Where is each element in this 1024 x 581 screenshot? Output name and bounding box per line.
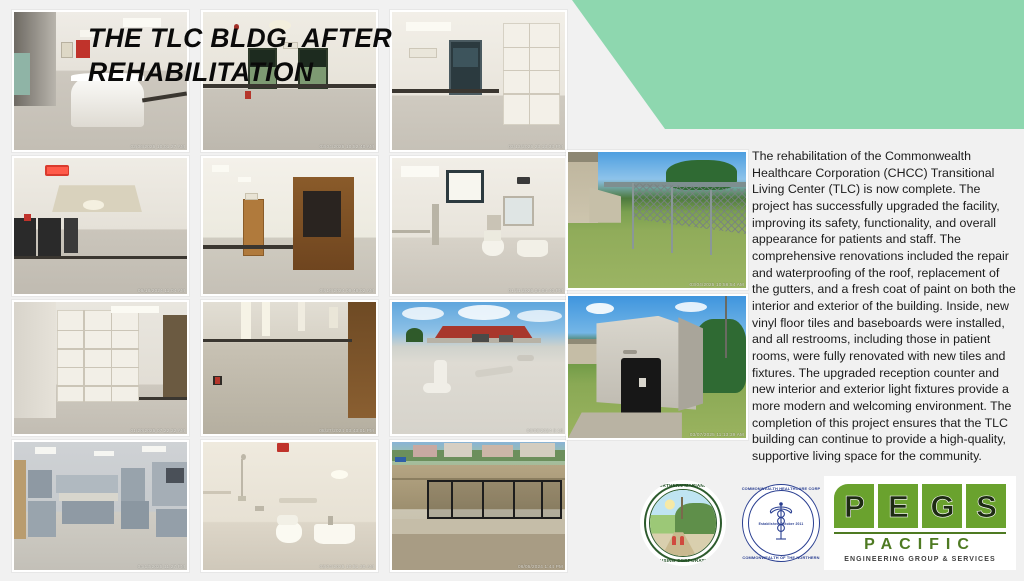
photo-image-corridor-wood-door: 09/16/2024 09:48:02 AM: [203, 158, 376, 294]
photo-timestamp: 03/04/2025 10:51:30 AM: [320, 564, 374, 569]
photo-timestamp: 03/13/2025 23:13:33 PM: [508, 144, 563, 149]
photo-thumbnail[interactable]: 03/04/2025 10:56:54 AM: [566, 150, 748, 290]
pegs-letter-e: E: [888, 491, 908, 522]
pegs-block-s: S: [966, 484, 1006, 528]
photo-timestamp: 09/16/2024 09:48:02 AM: [320, 288, 374, 293]
logo-strip: NORTHERN MARIANAS HOUSING CORPORATION CO…: [628, 474, 1020, 576]
pegs-divider-rule: [834, 532, 1006, 534]
photo-thumbnail[interactable]: 06/18/2024 11:04 AM: [12, 156, 189, 296]
description-paragraph: The rehabilitation of the Commonwealth H…: [752, 148, 1018, 465]
photo-timestamp: 01/20/2025 07:22:32 AM: [131, 428, 185, 433]
pegs-logo: P E G S PACIFIC ENGINEERING GROUP & SERV…: [824, 476, 1016, 570]
photo-timestamp: 06/05/2024 1:44 PM: [518, 564, 563, 569]
chcc-ring-text: COMMONWEALTH HEALTHCARE CORP Established…: [738, 480, 824, 566]
photo-timestamp: 01/31/2025 04:04:40 PM: [508, 288, 563, 293]
pegs-letter-p: P: [844, 491, 864, 522]
photo-thumbnail[interactable]: 04/13/2025 11:27 PM: [12, 440, 189, 572]
pegs-block-g: G: [922, 484, 962, 528]
chcc-text-middle: Established October 2011: [738, 522, 824, 526]
photo-image-fence-exterior: 03/04/2025 10:56:54 AM: [568, 152, 746, 288]
pegs-letter-g: G: [930, 491, 953, 522]
photo-image-utility-building: 03/07/2025 11:13:39 AM: [568, 296, 746, 438]
photo-timestamp: 06/18/2024 11:04 AM: [138, 288, 185, 293]
photo-thumbnail[interactable]: 09/16/2024 09:48:02 AM: [201, 156, 378, 296]
pegs-wordmark: PACIFIC: [834, 536, 1006, 554]
photo-image-lobby-exit: 06/18/2024 11:04 AM: [14, 158, 187, 294]
photo-thumbnail[interactable]: 08/27/2024 03:43:01 PM: [201, 300, 378, 436]
photo-thumbnail[interactable]: 01/31/2025 04:04:40 PM: [390, 156, 567, 296]
photo-thumbnail[interactable]: 03/04/2025 10:51:30 AM: [201, 440, 378, 572]
photo-timestamp: 03/04/2025 10:56:54 AM: [690, 282, 744, 287]
photo-image-patient-restroom: 01/31/2025 04:04:40 PM: [392, 158, 565, 294]
photo-timestamp: 04/13/2025 11:27 PM: [138, 564, 185, 569]
pegs-tagline: ENGINEERING GROUP & SERVICES: [834, 556, 1006, 563]
pegs-letter-blocks: P E G S: [834, 484, 1006, 528]
photo-timestamp: 02/06/2025 10:01:27 AM: [131, 144, 185, 149]
pegs-block-e: E: [878, 484, 918, 528]
photo-thumbnail[interactable]: 06/05/2024 1:44 PM: [390, 440, 567, 572]
title-banner: [560, 0, 1024, 129]
photo-image-kitchen: 04/13/2025 11:27 PM: [14, 442, 187, 570]
photo-timestamp: 08/27/2024 03:43:01 PM: [319, 428, 374, 433]
chcc-text-top: COMMONWEALTH HEALTHCARE CORP: [738, 486, 824, 491]
photo-timestamp: 03/04/2025 10:52:40 AM: [320, 144, 374, 149]
commonwealth-healthcare-corporation-seal: COMMONWEALTH HEALTHCARE CORP Established…: [738, 480, 824, 566]
photo-image-storage-shelves: 01/20/2025 07:22:32 AM: [14, 302, 187, 434]
photo-timestamp: 03/07/2025 11:13:39 AM: [690, 432, 744, 437]
photo-thumbnail[interactable]: 01/20/2025 07:22:32 AM: [12, 300, 189, 436]
photo-image-accessible-bathroom: 03/04/2025 10:51:30 AM: [203, 442, 376, 570]
nmhc-ring-text: NORTHERN MARIANAS HOUSING CORPORATION: [640, 480, 726, 566]
photo-image-exterior-railing: 06/05/2024 1:44 PM: [392, 442, 565, 570]
photo-thumbnail[interactable]: 06/05/2024 9:16: [390, 300, 567, 436]
page-title: THE TLC BLDG. AFTER REHABILITATION: [88, 22, 446, 90]
right-photo-column: 03/04/2025 10:56:54 AM 03/07/2025 11:13:…: [566, 150, 748, 442]
photo-timestamp: 06/05/2024 9:16: [527, 428, 563, 433]
pegs-letter-s: S: [976, 491, 996, 522]
photo-thumbnail[interactable]: 03/07/2025 11:13:39 AM: [566, 294, 748, 440]
photo-image-vinyl-floor-room: 08/27/2024 03:43:01 PM: [203, 302, 376, 434]
pegs-block-p: P: [834, 484, 874, 528]
photo-image-roof-waterproofed: 06/05/2024 9:16: [392, 302, 565, 434]
chcc-text-bottom: COMMONWEALTH OF THE NORTHERN: [738, 555, 824, 560]
nmhc-text-top: NORTHERN MARIANAS: [640, 483, 726, 488]
northern-marianas-housing-corporation-seal: NORTHERN MARIANAS HOUSING CORPORATION: [640, 480, 726, 566]
nmhc-text-bottom: HOUSING CORPORATION: [640, 558, 726, 563]
